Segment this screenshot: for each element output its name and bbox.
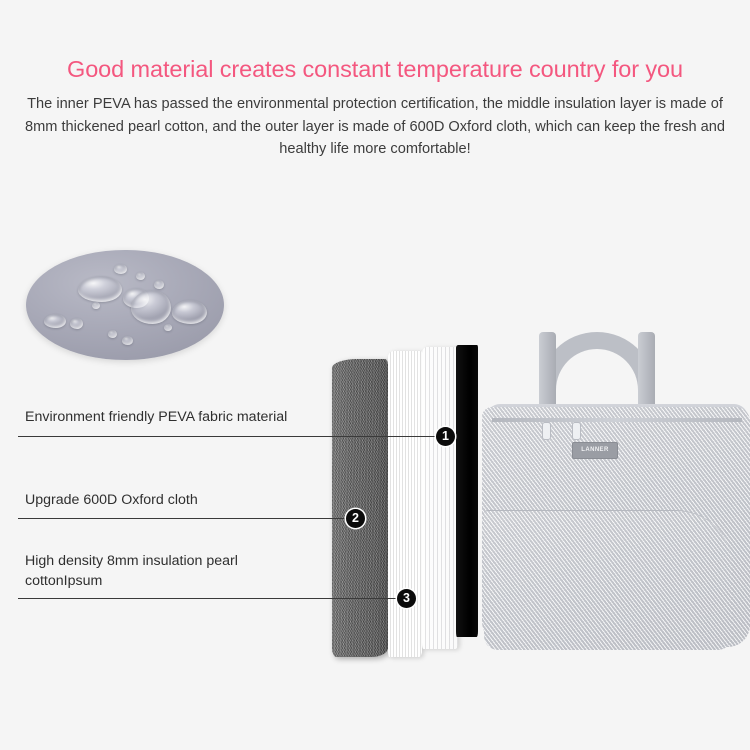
bag-brand-label: LANNER	[572, 442, 618, 459]
callout-badge-2: 2	[346, 509, 365, 528]
peva-inner-layer	[422, 347, 458, 649]
bag-brand-label-text: LANNER	[573, 443, 617, 458]
bag-zipper-pull	[542, 422, 551, 440]
water-droplet	[136, 272, 145, 280]
water-droplet	[122, 336, 133, 345]
bag-zipper-pull	[572, 422, 581, 440]
fabric-surface-ellipse	[26, 250, 224, 360]
callout-leader-line-3	[18, 598, 406, 599]
callout-leader-line-1	[18, 436, 446, 437]
water-droplet	[154, 280, 164, 289]
callout-badge-3: 3	[397, 589, 416, 608]
insulated-tote-bag: LANNER	[482, 332, 750, 662]
bag-pocket-edge	[484, 510, 732, 571]
water-droplet	[172, 300, 207, 324]
callout-leader-line-2	[18, 518, 355, 519]
water-droplet	[44, 314, 66, 328]
water-droplet	[114, 264, 127, 274]
water-droplet	[78, 276, 122, 302]
pearl-cotton-layer	[388, 351, 422, 657]
water-droplet	[164, 324, 172, 331]
product-infographic: Good material creates constant temperatu…	[0, 0, 750, 750]
waterproof-fabric-demo	[26, 250, 224, 360]
callout-badge-1: 1	[436, 427, 455, 446]
material-layer-stack	[326, 345, 496, 665]
callout-label-2: Upgrade 600D Oxford cloth	[25, 490, 198, 510]
water-droplet	[131, 290, 171, 324]
page-description: The inner PEVA has passed the environmen…	[14, 93, 736, 161]
callout-label-3: High density 8mm insulation pearl cotton…	[25, 551, 238, 591]
oxford-cloth-layer	[332, 359, 388, 657]
water-droplet	[92, 302, 100, 309]
callout-label-1: Environment friendly PEVA fabric materia…	[25, 407, 287, 427]
page-title: Good material creates constant temperatu…	[0, 56, 750, 83]
black-outer-edge	[456, 345, 478, 637]
bag-zipper	[492, 418, 742, 422]
water-droplet	[70, 318, 83, 329]
water-droplet	[108, 330, 117, 338]
